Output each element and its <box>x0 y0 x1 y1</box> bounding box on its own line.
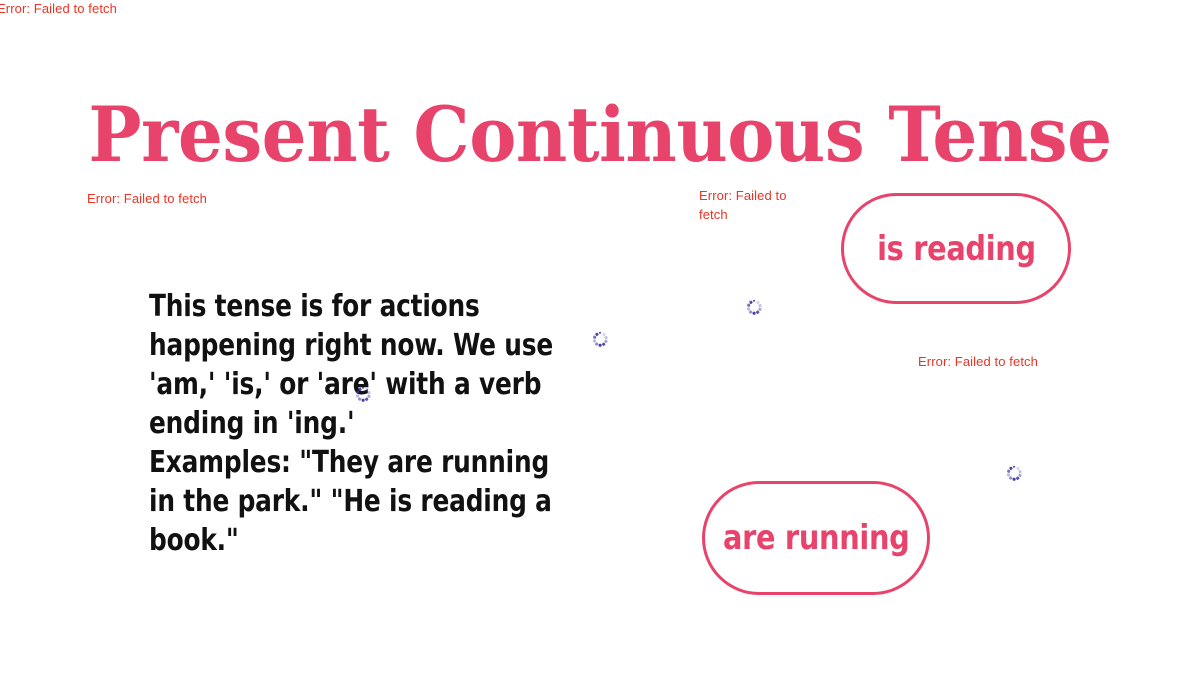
error-message-right-top: Error: Failed to fetch <box>699 186 791 224</box>
error-message-left-panel: Error: Failed to fetch <box>87 189 307 208</box>
loading-spinner-icon <box>592 331 608 347</box>
example-pill-label: are running <box>723 521 910 555</box>
example-pill-are-running[interactable]: are running <box>702 481 930 595</box>
page-title: Present Continuous Tense <box>42 95 1158 175</box>
lesson-body-text: This tense is for actions happening righ… <box>149 287 581 560</box>
loading-spinner-icon <box>355 386 371 402</box>
error-message-right-mid: Error: Failed to fetch <box>918 352 1138 371</box>
example-pill-is-reading[interactable]: is reading <box>841 193 1071 304</box>
example-pill-label: is reading <box>877 232 1036 266</box>
loading-spinner-icon <box>1006 465 1022 481</box>
slide-canvas: Error: Failed to fetch Present Continuou… <box>0 0 1200 675</box>
error-message-top-left: Error: Failed to fetch <box>0 0 217 18</box>
loading-spinner-icon <box>746 299 762 315</box>
